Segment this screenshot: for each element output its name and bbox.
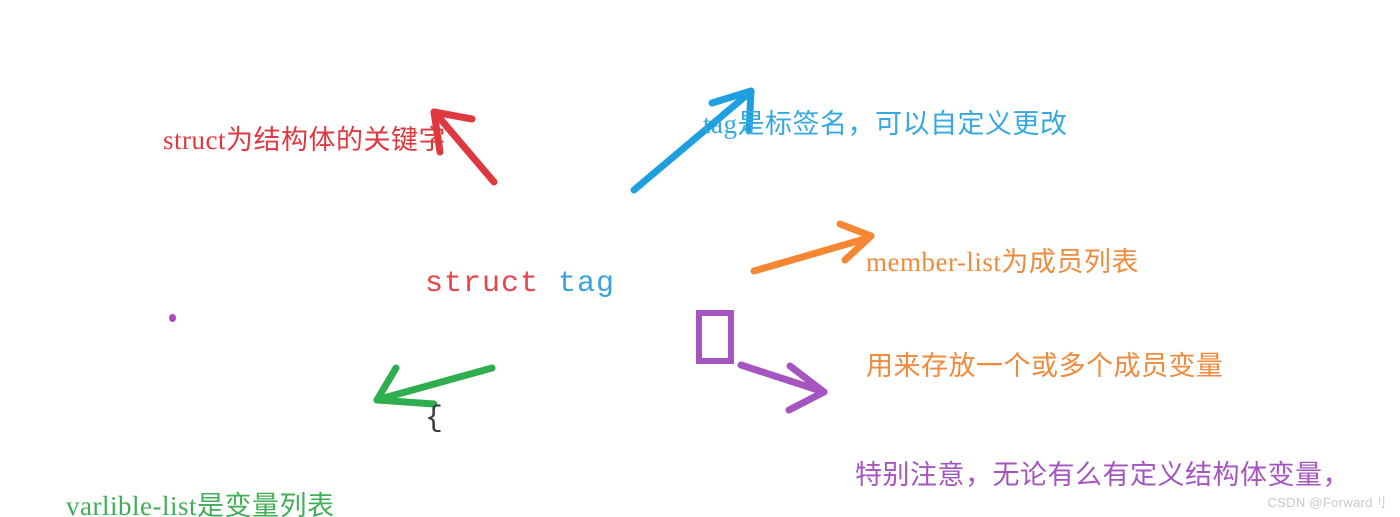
- orange-arrow-to-member: [754, 224, 871, 271]
- annotation-variable-list: varlible-list是变量列表 可以直接在这里定义一个或多个结构体变量: [66, 420, 589, 517]
- annotation-member-line-2: 用来存放一个或多个成员变量: [866, 349, 1224, 384]
- code-keyword-struct: struct: [425, 267, 539, 301]
- annotation-struct-line-1: struct为结构体的关键字: [163, 123, 446, 158]
- code-tag-name: tag: [558, 267, 615, 301]
- annotation-variable-line-1: varlible-list是变量列表: [66, 489, 589, 517]
- csdn-watermark: CSDN @Forward刂: [1267, 492, 1386, 511]
- annotation-struct: struct为结构体的关键字: [163, 54, 446, 227]
- semicolon-highlight-box: [696, 310, 734, 364]
- code-line-1: struct tag: [425, 262, 767, 307]
- stray-dot-mark: [169, 314, 176, 322]
- annotation-tag-line-1: tag是标签名，可以自定义更改: [703, 107, 1068, 142]
- code-space: [539, 267, 558, 301]
- annotation-member-line-1: member-list为成员列表: [866, 245, 1224, 280]
- annotation-semicolon-line-1: 特别注意，无论有么有定义结构体变量，: [855, 458, 1350, 493]
- diagram-canvas: struct tag { member - list; }varlible-li…: [0, 0, 1400, 517]
